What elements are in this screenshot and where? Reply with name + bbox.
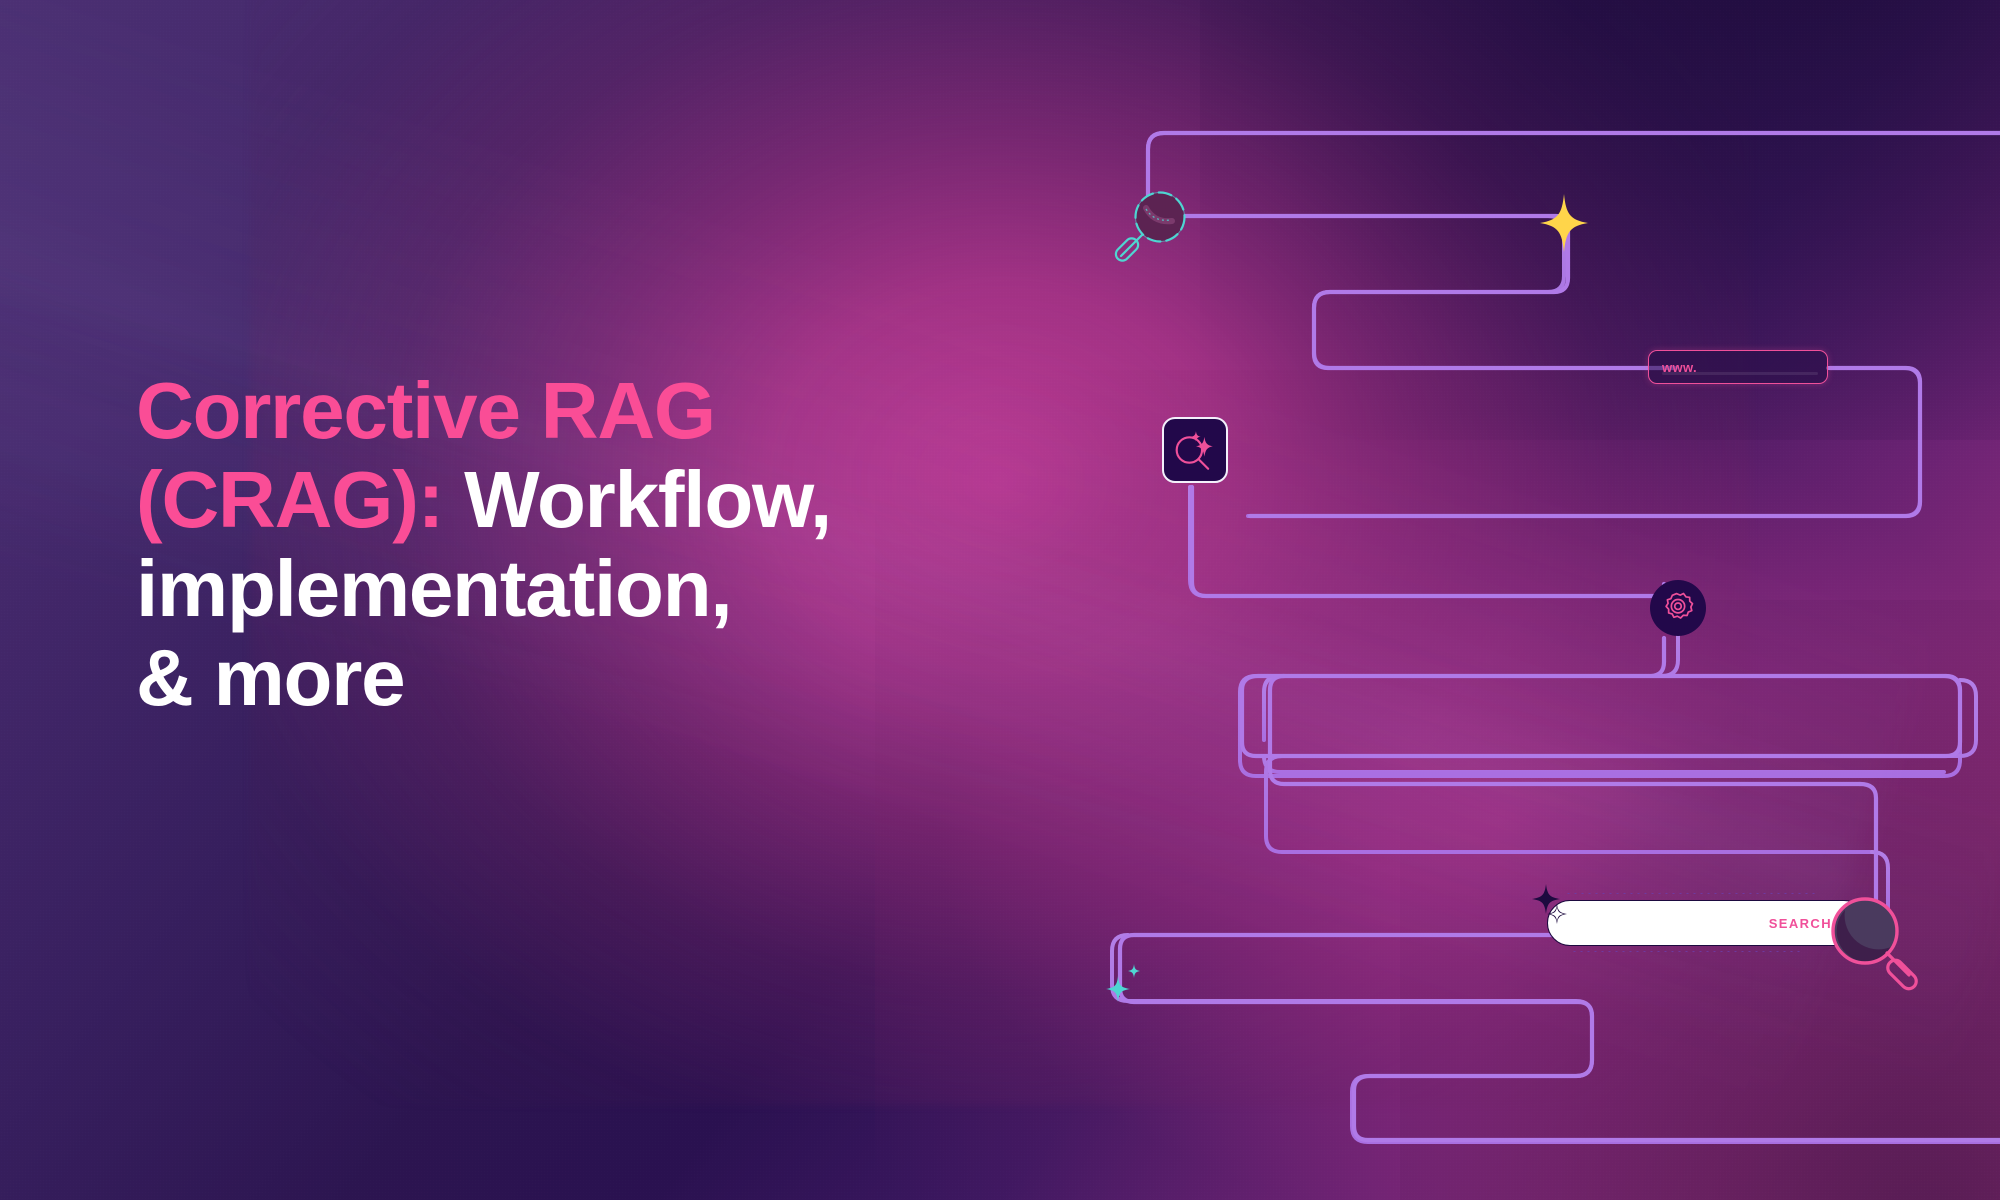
search-bar-dots-top [1565,891,1817,896]
magnifier-icon-teal [1108,190,1210,282]
headline-accent-2: (CRAG): [136,455,443,544]
magnifier-icon-pink [1823,890,1931,1000]
sparkle-star-yellow-icon [1538,192,1590,254]
trace-3 [1248,368,1920,516]
headline-line-2: (CRAG): Workflow, [136,455,1056,544]
gear-icon [1660,590,1696,626]
trace-lower-a [1266,680,1976,852]
sparkle-star-teal-icon [1104,960,1148,1004]
ai-search-tile[interactable] [1162,417,1228,483]
trace-1 [1148,133,2000,196]
headline-accent-1: Corrective RAG [136,366,715,455]
search-bar-dots-bottom [1571,949,1803,954]
trace-8 [1264,756,1944,772]
search-input[interactable]: SEARCH [1547,900,1867,946]
trace-6 [1296,676,1960,692]
headline-line-1: Corrective RAG [136,366,1056,455]
page-title: Corrective RAG (CRAG): Workflow, impleme… [136,366,1056,722]
sparkle-star-dark-icon [1530,882,1578,936]
ai-search-icon [1164,419,1226,481]
headline-line-3: implementation, [136,544,1056,633]
trace-4 [1190,487,1678,612]
headline-rest-2: Workflow, [443,455,831,544]
url-bar-underline [1662,372,1818,375]
search-bar-group: SEARCH [1535,885,1885,995]
gear-settings-node[interactable] [1650,580,1706,636]
url-bar[interactable]: www. [1648,350,1828,384]
headline-line-4: & more [136,633,1056,722]
